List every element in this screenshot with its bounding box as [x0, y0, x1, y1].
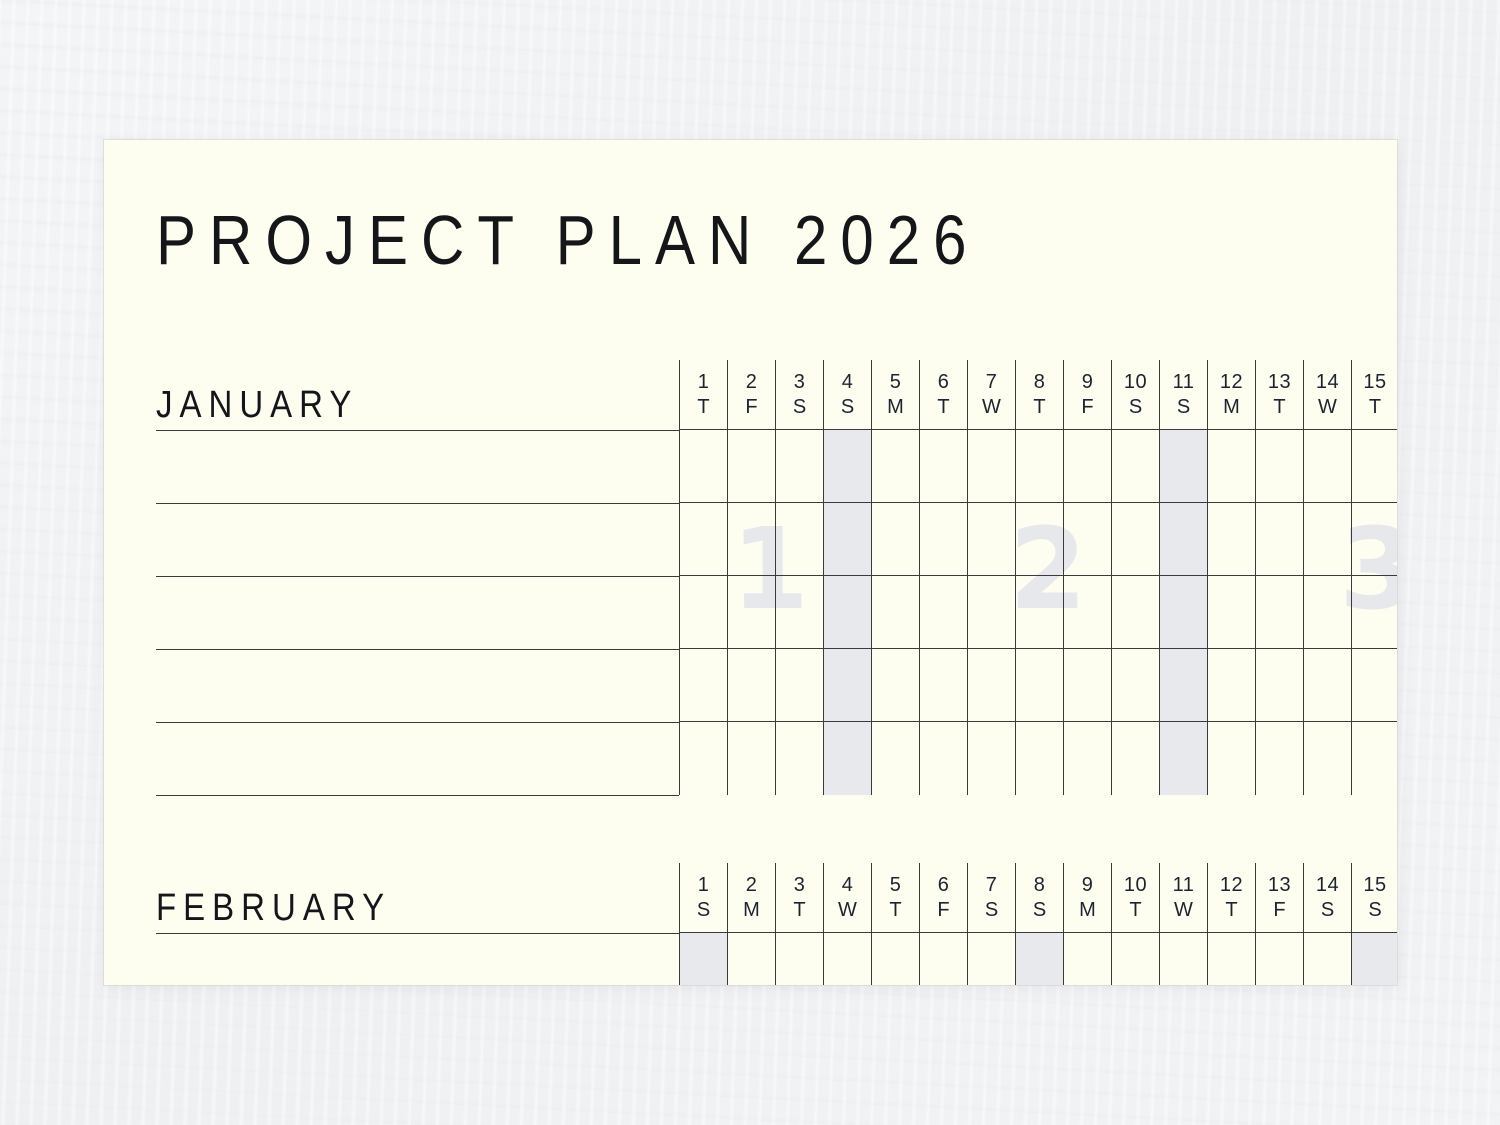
task-row-rule — [156, 576, 679, 577]
day-of-week: F — [745, 397, 757, 417]
day-cell-stack — [1352, 430, 1397, 795]
day-number: 14 — [1316, 875, 1339, 895]
day-cell[interactable] — [1304, 649, 1351, 722]
day-column-february-2[interactable]: 2M — [727, 863, 775, 985]
month-label-february: FEBRUARY — [156, 886, 391, 929]
day-cell[interactable] — [1208, 933, 1255, 985]
day-cell[interactable] — [776, 430, 823, 503]
day-cell-stack — [1160, 933, 1207, 985]
day-cell[interactable] — [1160, 576, 1207, 649]
day-cell-stack — [872, 430, 919, 795]
day-cell[interactable] — [776, 649, 823, 722]
day-of-week: T — [793, 900, 805, 920]
day-number: 7 — [986, 875, 998, 895]
day-of-week: T — [937, 397, 949, 417]
day-of-week: S — [1321, 900, 1334, 920]
month-section-february: FEBRUARY 1S2M3T4W5T6F7S8S9M10T11W12T13F1… — [104, 863, 1397, 985]
day-of-week: S — [793, 397, 806, 417]
month-underline-february — [156, 933, 679, 934]
day-header: 3S — [776, 360, 823, 430]
day-number: 11 — [1173, 372, 1195, 392]
day-cell[interactable] — [1016, 649, 1063, 722]
day-cell[interactable] — [680, 430, 727, 503]
day-number: 12 — [1220, 875, 1243, 895]
day-column-february-7[interactable]: 7S — [967, 863, 1015, 985]
day-number: 12 — [1220, 372, 1243, 392]
day-cell[interactable] — [920, 430, 967, 503]
day-of-week: T — [1129, 900, 1141, 920]
day-of-week: F — [937, 900, 949, 920]
day-cell[interactable] — [680, 722, 727, 795]
day-cell[interactable] — [1064, 503, 1111, 576]
day-cell[interactable] — [1208, 430, 1255, 503]
day-cell[interactable] — [824, 649, 871, 722]
day-of-week: W — [1174, 900, 1193, 920]
day-cell-stack — [872, 933, 919, 985]
day-number: 15 — [1363, 875, 1386, 895]
day-of-week: T — [1273, 397, 1285, 417]
day-column-january-14[interactable]: 14W — [1303, 360, 1351, 795]
day-of-week: S — [1033, 900, 1046, 920]
day-cell-stack — [680, 933, 727, 985]
day-header: 9F — [1064, 360, 1111, 430]
day-cell-stack — [776, 430, 823, 795]
day-number: 10 — [1124, 372, 1147, 392]
day-header: 1S — [680, 863, 727, 933]
day-column-january-6[interactable]: 6T — [919, 360, 967, 795]
day-header: 6F — [920, 863, 967, 933]
day-cell[interactable] — [776, 576, 823, 649]
day-cell[interactable] — [728, 649, 775, 722]
day-cell[interactable] — [968, 933, 1015, 985]
day-column-february-11[interactable]: 11W — [1159, 863, 1207, 985]
day-cell[interactable] — [872, 722, 919, 795]
day-number: 10 — [1124, 875, 1147, 895]
day-number: 2 — [746, 372, 758, 392]
day-column-february-10[interactable]: 10T — [1111, 863, 1159, 985]
day-column-january-8[interactable]: 8T — [1015, 360, 1063, 795]
day-column-february-8[interactable]: 8S — [1015, 863, 1063, 985]
day-cell[interactable] — [680, 576, 727, 649]
day-cell[interactable] — [728, 933, 775, 985]
day-column-january-10[interactable]: 10S — [1111, 360, 1159, 795]
day-column-january-3[interactable]: 3S — [775, 360, 823, 795]
day-header: 1T — [680, 360, 727, 430]
day-cell[interactable] — [1064, 430, 1111, 503]
day-cell-stack — [1064, 430, 1111, 795]
task-row-rule — [156, 503, 679, 504]
day-cell[interactable] — [680, 933, 727, 985]
day-cell[interactable] — [968, 649, 1015, 722]
day-grid-january: 1T2F3S4S5M6T7W8T9F10S11S12M13T14W15T — [679, 360, 1397, 795]
day-column-january-12[interactable]: 12M — [1207, 360, 1255, 795]
day-of-week: S — [841, 397, 854, 417]
day-of-week: M — [887, 397, 904, 417]
day-cell[interactable] — [1160, 503, 1207, 576]
day-cell-stack — [968, 933, 1015, 985]
day-of-week: T — [1225, 900, 1237, 920]
day-column-february-5[interactable]: 5T — [871, 863, 919, 985]
day-cell[interactable] — [728, 430, 775, 503]
day-header: 11W — [1160, 863, 1207, 933]
day-cell-stack — [728, 430, 775, 795]
day-column-february-3[interactable]: 3T — [775, 863, 823, 985]
day-number: 5 — [890, 372, 902, 392]
day-cell[interactable] — [1208, 722, 1255, 795]
day-cell[interactable] — [1016, 576, 1063, 649]
day-header: 12M — [1208, 360, 1255, 430]
day-cell[interactable] — [1112, 576, 1159, 649]
day-cell[interactable] — [1016, 722, 1063, 795]
day-cell[interactable] — [872, 430, 919, 503]
day-cell[interactable] — [920, 933, 967, 985]
day-cell[interactable] — [920, 576, 967, 649]
task-row-rule — [156, 430, 679, 431]
day-number: 8 — [1034, 875, 1046, 895]
day-column-february-4[interactable]: 4W — [823, 863, 871, 985]
day-number: 15 — [1363, 372, 1386, 392]
day-cell-stack — [1064, 933, 1111, 985]
day-number: 3 — [794, 372, 806, 392]
day-number: 11 — [1173, 875, 1195, 895]
day-column-january-2[interactable]: 2F — [727, 360, 775, 795]
day-cell[interactable] — [872, 503, 919, 576]
day-number: 6 — [938, 372, 950, 392]
day-cell[interactable] — [872, 576, 919, 649]
day-grid-february: 1S2M3T4W5T6F7S8S9M10T11W12T13F14S15S — [679, 863, 1397, 985]
day-cell-stack — [1304, 430, 1351, 795]
day-cell[interactable] — [1352, 576, 1397, 649]
day-column-january-5[interactable]: 5M — [871, 360, 919, 795]
day-cell-stack — [1112, 430, 1159, 795]
day-cell[interactable] — [920, 649, 967, 722]
month-label-january: JANUARY — [156, 383, 358, 426]
day-cell[interactable] — [1160, 722, 1207, 795]
day-cell[interactable] — [776, 503, 823, 576]
day-of-week: S — [1129, 397, 1142, 417]
day-header: 10S — [1112, 360, 1159, 430]
day-header: 8T — [1016, 360, 1063, 430]
day-cell[interactable] — [680, 649, 727, 722]
day-number: 5 — [890, 875, 902, 895]
day-cell[interactable] — [1256, 722, 1303, 795]
day-column-january-7[interactable]: 7W — [967, 360, 1015, 795]
day-cell[interactable] — [1064, 933, 1111, 985]
day-cell[interactable] — [1352, 649, 1397, 722]
day-column-january-15[interactable]: 15T — [1351, 360, 1397, 795]
day-column-february-13[interactable]: 13F — [1255, 863, 1303, 985]
day-cell-stack — [776, 933, 823, 985]
day-cell[interactable] — [1112, 722, 1159, 795]
day-number: 4 — [842, 372, 854, 392]
day-cell[interactable] — [824, 576, 871, 649]
day-of-week: S — [1177, 397, 1190, 417]
day-header: 14S — [1304, 863, 1351, 933]
day-cell[interactable] — [1064, 649, 1111, 722]
day-number: 9 — [1082, 372, 1094, 392]
day-cell[interactable] — [776, 722, 823, 795]
day-of-week: T — [889, 900, 901, 920]
day-cell-stack — [824, 933, 871, 985]
day-cell[interactable] — [1304, 933, 1351, 985]
day-cell-stack — [1208, 933, 1255, 985]
day-cell-stack — [1256, 933, 1303, 985]
day-cell[interactable] — [1304, 430, 1351, 503]
page-title: PROJECT PLAN 2026 — [156, 200, 980, 280]
day-number: 1 — [698, 875, 710, 895]
day-number: 7 — [986, 372, 998, 392]
day-column-january-4[interactable]: 4S — [823, 360, 871, 795]
day-cell[interactable] — [680, 503, 727, 576]
day-of-week: F — [1273, 900, 1285, 920]
day-cell[interactable] — [968, 430, 1015, 503]
day-of-week: S — [985, 900, 998, 920]
day-cell[interactable] — [1160, 933, 1207, 985]
day-header: 10T — [1112, 863, 1159, 933]
day-header: 2F — [728, 360, 775, 430]
day-header: 7W — [968, 360, 1015, 430]
day-number: 8 — [1034, 372, 1046, 392]
day-of-week: W — [982, 397, 1001, 417]
day-header: 14W — [1304, 360, 1351, 430]
day-header: 12T — [1208, 863, 1255, 933]
day-header: 3T — [776, 863, 823, 933]
day-cell-stack — [1016, 430, 1063, 795]
day-cell[interactable] — [1256, 933, 1303, 985]
day-cell[interactable] — [728, 722, 775, 795]
day-cell[interactable] — [1208, 503, 1255, 576]
day-cell[interactable] — [1208, 649, 1255, 722]
day-cell-stack — [1256, 430, 1303, 795]
day-number: 2 — [746, 875, 758, 895]
day-column-february-14[interactable]: 14S — [1303, 863, 1351, 985]
day-of-week: T — [1369, 397, 1381, 417]
day-column-january-11[interactable]: 11S — [1159, 360, 1207, 795]
day-column-february-15[interactable]: 15S — [1351, 863, 1397, 985]
day-column-january-13[interactable]: 13T — [1255, 360, 1303, 795]
day-of-week: S — [1368, 900, 1381, 920]
day-cell-stack — [920, 430, 967, 795]
day-header: 7S — [968, 863, 1015, 933]
day-number: 9 — [1082, 875, 1094, 895]
day-column-january-1[interactable]: 1T — [679, 360, 727, 795]
day-cell[interactable] — [824, 722, 871, 795]
day-number: 13 — [1268, 875, 1291, 895]
day-header: 6T — [920, 360, 967, 430]
day-column-february-12[interactable]: 12T — [1207, 863, 1255, 985]
day-cell[interactable] — [1064, 722, 1111, 795]
day-header: 9M — [1064, 863, 1111, 933]
day-column-february-1[interactable]: 1S — [679, 863, 727, 985]
day-cell[interactable] — [1256, 503, 1303, 576]
day-of-week: M — [1079, 900, 1096, 920]
day-number: 13 — [1268, 372, 1291, 392]
day-cell[interactable] — [1208, 576, 1255, 649]
day-header: 15T — [1352, 360, 1397, 430]
day-cell[interactable] — [1112, 430, 1159, 503]
day-number: 14 — [1316, 372, 1339, 392]
day-cell[interactable] — [1304, 722, 1351, 795]
day-cell[interactable] — [872, 649, 919, 722]
day-cell[interactable] — [824, 503, 871, 576]
day-cell[interactable] — [1064, 576, 1111, 649]
task-row-rule — [156, 795, 679, 796]
day-cell[interactable] — [1304, 503, 1351, 576]
day-header: 8S — [1016, 863, 1063, 933]
day-cell[interactable] — [1112, 503, 1159, 576]
day-of-week: T — [697, 397, 709, 417]
day-cell[interactable] — [968, 576, 1015, 649]
day-cell-stack — [920, 933, 967, 985]
day-of-week: W — [1318, 397, 1337, 417]
day-cell[interactable] — [1016, 503, 1063, 576]
day-cell[interactable] — [1256, 430, 1303, 503]
day-cell[interactable] — [1352, 933, 1397, 985]
day-cell[interactable] — [920, 503, 967, 576]
day-cell[interactable] — [1112, 933, 1159, 985]
day-header: 4S — [824, 360, 871, 430]
day-header: 4W — [824, 863, 871, 933]
day-number: 6 — [938, 875, 950, 895]
day-cell[interactable] — [824, 933, 871, 985]
day-cell[interactable] — [968, 503, 1015, 576]
day-of-week: F — [1081, 397, 1093, 417]
day-cell[interactable] — [1160, 649, 1207, 722]
day-of-week: M — [1223, 397, 1240, 417]
day-cell-stack — [1160, 430, 1207, 795]
day-cell[interactable] — [1016, 430, 1063, 503]
day-cell[interactable] — [1256, 576, 1303, 649]
day-number: 1 — [698, 372, 710, 392]
day-cell[interactable] — [1352, 430, 1397, 503]
day-cell[interactable] — [728, 503, 775, 576]
day-column-february-9[interactable]: 9M — [1063, 863, 1111, 985]
day-header: 5T — [872, 863, 919, 933]
day-cell-stack — [968, 430, 1015, 795]
day-cell[interactable] — [776, 933, 823, 985]
day-column-february-6[interactable]: 6F — [919, 863, 967, 985]
day-header: 2M — [728, 863, 775, 933]
day-cell[interactable] — [1352, 503, 1397, 576]
day-cell-stack — [1208, 430, 1255, 795]
day-of-week: S — [697, 900, 710, 920]
day-number: 3 — [794, 875, 806, 895]
day-cell-stack — [728, 933, 775, 985]
task-row-rule — [156, 649, 679, 650]
day-cell[interactable] — [872, 933, 919, 985]
day-cell[interactable] — [1016, 933, 1063, 985]
day-cell-stack — [1304, 933, 1351, 985]
day-of-week: M — [743, 900, 760, 920]
day-cell-stack — [680, 430, 727, 795]
day-cell[interactable] — [1256, 649, 1303, 722]
day-cell-stack — [824, 430, 871, 795]
day-cell[interactable] — [1160, 430, 1207, 503]
day-number: 4 — [842, 875, 854, 895]
day-cell[interactable] — [920, 722, 967, 795]
day-of-week: W — [838, 900, 857, 920]
day-cell[interactable] — [968, 722, 1015, 795]
day-cell[interactable] — [1112, 649, 1159, 722]
day-cell[interactable] — [728, 576, 775, 649]
day-cell-stack — [1352, 933, 1397, 985]
day-cell-stack — [1112, 933, 1159, 985]
day-header: 15S — [1352, 863, 1397, 933]
day-header: 5M — [872, 360, 919, 430]
planner-page: PROJECT PLAN 2026 JANUARY 123 1T2F3S4S5M… — [104, 140, 1397, 985]
day-cell[interactable] — [824, 430, 871, 503]
month-section-january: JANUARY 123 1T2F3S4S5M6T7W8T9F10S11S12M1… — [104, 360, 1397, 802]
task-row-rule — [156, 722, 679, 723]
day-header: 13F — [1256, 863, 1303, 933]
day-header: 11S — [1160, 360, 1207, 430]
day-cell[interactable] — [1352, 722, 1397, 795]
day-column-january-9[interactable]: 9F — [1063, 360, 1111, 795]
day-of-week: T — [1033, 397, 1045, 417]
day-cell[interactable] — [1304, 576, 1351, 649]
day-cell-stack — [1016, 933, 1063, 985]
day-header: 13T — [1256, 360, 1303, 430]
